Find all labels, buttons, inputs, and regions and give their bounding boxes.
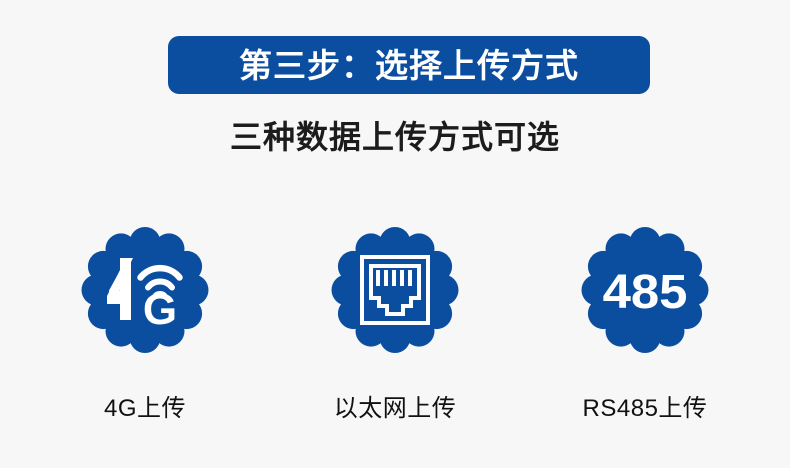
rj45-ethernet-port-icon: [333, 228, 457, 352]
page-subtitle: 三种数据上传方式可选: [0, 118, 790, 156]
upload-method-caption-ethernet: 以太网上传: [334, 388, 457, 423]
4g-signal-icon: G: [83, 228, 207, 352]
rs485-number-label: 485: [603, 265, 688, 318]
rs485-number-icon: 485: [583, 228, 707, 352]
upload-method-caption-4g: 4G上传: [104, 388, 186, 423]
4g-letter-g: G: [143, 285, 177, 334]
promo-page: 第三步：选择上传方式 三种数据上传方式可选: [0, 0, 790, 468]
upload-method-caption-rs485: RS485上传: [583, 388, 708, 423]
upload-method-list: G 4G上传: [0, 228, 790, 423]
step-banner-label: 第三步：选择上传方式: [239, 49, 579, 82]
upload-method-card-4g[interactable]: G 4G上传: [20, 228, 270, 423]
upload-method-card-rs485[interactable]: 485 RS485上传: [520, 228, 770, 423]
step-banner: 第三步：选择上传方式: [168, 36, 650, 94]
upload-method-card-ethernet[interactable]: 以太网上传: [270, 228, 520, 423]
